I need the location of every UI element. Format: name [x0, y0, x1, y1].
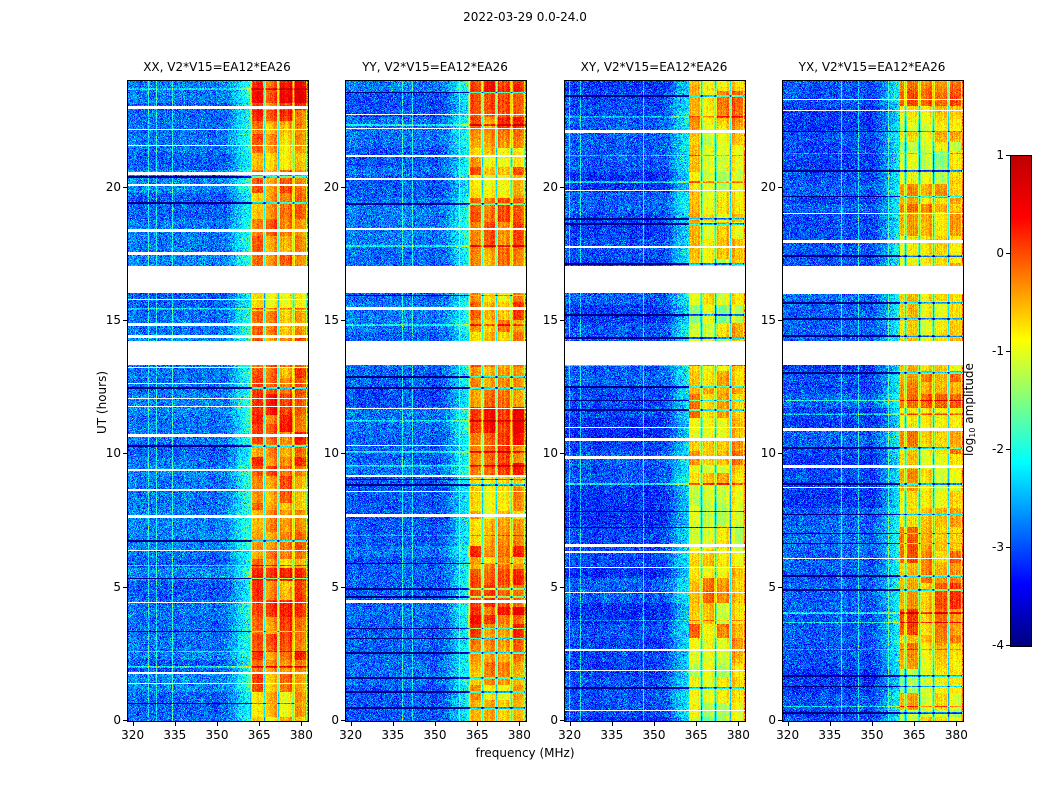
- y-tick-mark: [123, 187, 127, 188]
- y-axis-label: UT (hours): [95, 371, 109, 434]
- x-tick-mark: [914, 722, 915, 726]
- y-tick-mark: [778, 320, 782, 321]
- x-tick-label: 335: [163, 728, 186, 742]
- x-tick-mark: [830, 722, 831, 726]
- panel-yy: YY, V2*V15=EA12*EA26: [345, 80, 525, 722]
- y-tick-label: 5: [303, 580, 339, 594]
- y-tick-label: 5: [85, 580, 121, 594]
- colorbar-tick-mark: [1006, 155, 1010, 156]
- y-tick-label: 5: [522, 580, 558, 594]
- x-tick-label: 365: [685, 728, 708, 742]
- x-tick-mark: [133, 722, 134, 726]
- y-tick-label: 0: [85, 713, 121, 727]
- x-tick-mark: [435, 722, 436, 726]
- x-tick-mark: [872, 722, 873, 726]
- y-tick-label: 0: [522, 713, 558, 727]
- x-tick-label: 335: [600, 728, 623, 742]
- waterfall-yy: [345, 80, 527, 722]
- x-tick-label: 350: [861, 728, 884, 742]
- y-tick-mark: [778, 587, 782, 588]
- y-tick-label: 15: [522, 313, 558, 327]
- panel-title-yy: YY, V2*V15=EA12*EA26: [345, 60, 525, 74]
- y-tick-label: 15: [85, 313, 121, 327]
- x-tick-mark: [259, 722, 260, 726]
- x-tick-mark: [393, 722, 394, 726]
- y-tick-label: 0: [303, 713, 339, 727]
- x-tick-label: 365: [466, 728, 489, 742]
- y-tick-label: 20: [85, 180, 121, 194]
- y-tick-mark: [778, 187, 782, 188]
- y-tick-label: 0: [740, 713, 776, 727]
- colorbar-label: log10 amplitude: [962, 363, 977, 456]
- colorbar-tick-label: 0: [970, 246, 1004, 260]
- colorbar-tick-mark: [1006, 253, 1010, 254]
- x-tick-label: 350: [206, 728, 229, 742]
- x-tick-mark: [351, 722, 352, 726]
- colorbar-tick-mark: [1006, 449, 1010, 450]
- x-tick-mark: [477, 722, 478, 726]
- x-tick-label: 335: [818, 728, 841, 742]
- x-tick-label: 365: [248, 728, 271, 742]
- y-tick-mark: [341, 453, 345, 454]
- x-tick-label: 350: [424, 728, 447, 742]
- x-tick-mark: [217, 722, 218, 726]
- waterfall-xx: [127, 80, 309, 722]
- y-tick-label: 5: [740, 580, 776, 594]
- y-tick-mark: [123, 453, 127, 454]
- x-tick-mark: [696, 722, 697, 726]
- colorbar-tick-mark: [1006, 351, 1010, 352]
- y-tick-mark: [560, 320, 564, 321]
- x-tick-label: 335: [381, 728, 404, 742]
- x-tick-mark: [612, 722, 613, 726]
- colorbar-tick-label: 1: [970, 148, 1004, 162]
- x-tick-label: 365: [903, 728, 926, 742]
- y-tick-label: 10: [522, 446, 558, 460]
- y-tick-mark: [778, 453, 782, 454]
- y-tick-mark: [560, 587, 564, 588]
- x-tick-label: 320: [121, 728, 144, 742]
- colorbar-tick-mark: [1006, 645, 1010, 646]
- colorbar-tick-label: -3: [970, 540, 1004, 554]
- colorbar-tick-label: -4: [970, 638, 1004, 652]
- y-tick-label: 20: [522, 180, 558, 194]
- x-tick-label: 350: [643, 728, 666, 742]
- y-tick-mark: [560, 187, 564, 188]
- y-tick-mark: [341, 187, 345, 188]
- x-tick-mark: [570, 722, 571, 726]
- figure-root: 2022-03-29 0.0-24.0 XX, V2*V15=EA12*EA26…: [0, 0, 1050, 800]
- x-tick-mark: [175, 722, 176, 726]
- y-tick-label: 10: [85, 446, 121, 460]
- x-tick-mark: [956, 722, 957, 726]
- y-tick-mark: [123, 320, 127, 321]
- colorbar: [1010, 155, 1032, 647]
- x-tick-mark: [788, 722, 789, 726]
- colorbar-tick-label: -1: [970, 344, 1004, 358]
- x-tick-mark: [519, 722, 520, 726]
- x-tick-label: 380: [945, 728, 968, 742]
- y-tick-label: 10: [303, 446, 339, 460]
- y-tick-label: 15: [740, 313, 776, 327]
- y-tick-mark: [341, 587, 345, 588]
- x-tick-mark: [654, 722, 655, 726]
- x-tick-label: 320: [339, 728, 362, 742]
- x-tick-label: 380: [508, 728, 531, 742]
- y-tick-label: 20: [740, 180, 776, 194]
- x-tick-label: 320: [558, 728, 581, 742]
- y-tick-mark: [123, 720, 127, 721]
- y-tick-mark: [560, 720, 564, 721]
- panel-xx: XX, V2*V15=EA12*EA26: [127, 80, 307, 722]
- y-tick-mark: [123, 587, 127, 588]
- panel-title-yx: YX, V2*V15=EA12*EA26: [782, 60, 962, 74]
- x-axis-label: frequency (MHz): [0, 746, 1050, 760]
- x-tick-label: 380: [290, 728, 313, 742]
- y-tick-mark: [341, 720, 345, 721]
- panel-title-xy: XY, V2*V15=EA12*EA26: [564, 60, 744, 74]
- waterfall-xy: [564, 80, 746, 722]
- panel-xy: XY, V2*V15=EA12*EA26: [564, 80, 744, 722]
- panel-title-xx: XX, V2*V15=EA12*EA26: [127, 60, 307, 74]
- x-tick-label: 320: [776, 728, 799, 742]
- figure-suptitle: 2022-03-29 0.0-24.0: [0, 10, 1050, 24]
- colorbar-tick-mark: [1006, 547, 1010, 548]
- x-tick-label: 380: [727, 728, 750, 742]
- y-tick-mark: [341, 320, 345, 321]
- y-tick-label: 10: [740, 446, 776, 460]
- y-tick-mark: [560, 453, 564, 454]
- y-tick-label: 15: [303, 313, 339, 327]
- y-tick-mark: [778, 720, 782, 721]
- waterfall-yx: [782, 80, 964, 722]
- panel-yx: YX, V2*V15=EA12*EA26: [782, 80, 962, 722]
- y-tick-label: 20: [303, 180, 339, 194]
